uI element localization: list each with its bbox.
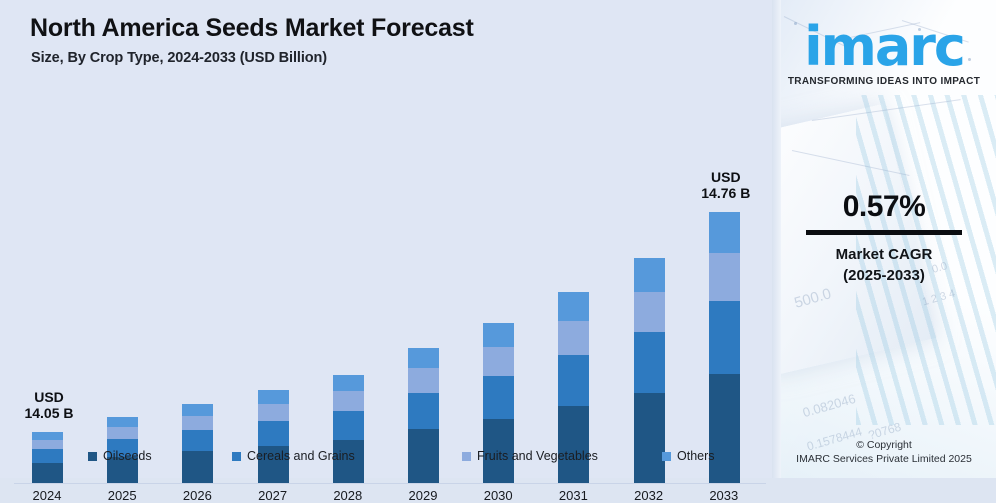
x-axis-label: 2030 [465,488,531,503]
bar-segment[interactable] [182,416,213,430]
bar-group[interactable] [465,80,531,483]
page-subtitle: Size, By Crop Type, 2024-2033 (USD Billi… [31,50,327,66]
legend-swatch-icon [662,452,671,461]
bar-segment[interactable] [558,355,589,406]
legend-label: Cereals and Grains [247,449,355,463]
axis-baseline [14,483,766,484]
bar-segment[interactable] [107,427,138,439]
bar-group[interactable] [89,80,155,483]
bar-group[interactable] [616,80,682,483]
legend-swatch-icon [232,452,241,461]
bar-segment[interactable] [258,390,289,404]
bar-segment[interactable] [258,404,289,421]
bar-group[interactable] [164,80,230,483]
bar-segment[interactable] [408,368,439,392]
cagr-label: Market CAGR [772,244,996,265]
chart-legend: OilseedsCereals and GrainsFruits and Veg… [0,441,772,471]
bar-segment[interactable] [709,301,740,374]
bar-segment[interactable] [32,432,63,440]
x-axis-label: 2024 [14,488,80,503]
bar-segment[interactable] [483,347,514,376]
copyright-line-1: © Copyright [772,438,996,452]
bar-segment[interactable] [333,391,364,410]
legend-item[interactable]: Cereals and Grains [232,449,355,463]
x-axis-label: 2032 [616,488,682,503]
x-axis-label: 2029 [390,488,456,503]
bar-group[interactable] [315,80,381,483]
bar-group[interactable] [390,80,456,483]
legend-label: Fruits and Vegetables [477,449,598,463]
bar-segment[interactable] [333,375,364,391]
bar-segment[interactable] [182,404,213,416]
bar-value-label: USD 14.76 B [684,169,768,201]
x-axis-label: 2026 [164,488,230,503]
bar-value-label: USD 14.05 B [7,389,91,421]
bar-group[interactable]: USD 14.76 B [691,80,757,483]
cagr-block: 0.57% Market CAGR (2025-2033) [772,190,996,286]
imarc-logo: imarc TRANSFORMING IDEAS INTO IMPACT [772,20,996,87]
x-axis-label: 2031 [540,488,606,503]
bar-group[interactable] [540,80,606,483]
bar-segment[interactable] [709,212,740,253]
x-axis-label: 2028 [315,488,381,503]
bar-segment[interactable] [634,258,665,292]
x-axis-label: 2025 [89,488,155,503]
bar-segment[interactable] [634,332,665,393]
chart-page: North America Seeds Market Forecast Size… [0,0,996,478]
bar-segment[interactable] [483,376,514,419]
legend-item[interactable]: Others [662,449,715,463]
cagr-value: 0.57% [772,190,996,224]
cagr-divider [806,230,962,235]
bar-segment[interactable] [558,321,589,355]
bar-segment[interactable] [634,292,665,332]
bar-segment[interactable] [709,253,740,302]
legend-item[interactable]: Oilseeds [88,449,152,463]
bar-segment[interactable] [558,292,589,321]
legend-swatch-icon [462,452,471,461]
cagr-period: (2025-2033) [772,265,996,286]
legend-item[interactable]: Fruits and Vegetables [462,449,598,463]
bar-group[interactable] [240,80,306,483]
plot-area: USD 14.05 BUSD 14.76 B 20242025202620272… [0,80,772,405]
brand-panel: 500.0 1 2 3 4 0.0 0.082046 ?0768 0.15784… [772,0,996,478]
bar-segment[interactable] [408,393,439,429]
x-axis-label: 2027 [240,488,306,503]
copyright-notice: © Copyright IMARC Services Private Limit… [772,438,996,466]
legend-label: Others [677,449,715,463]
bar-segment[interactable] [333,411,364,440]
bar-segment[interactable] [483,323,514,347]
copyright-line-2: IMARC Services Private Limited 2025 [772,452,996,466]
bar-segment[interactable] [408,348,439,368]
legend-label: Oilseeds [103,449,152,463]
chart-panel: North America Seeds Market Forecast Size… [0,0,772,478]
logo-wordmark: imarc [804,20,964,74]
bar-group[interactable]: USD 14.05 B [14,80,80,483]
page-title: North America Seeds Market Forecast [30,14,474,43]
legend-swatch-icon [88,452,97,461]
bar-segment[interactable] [107,417,138,427]
x-axis-label: 2033 [691,488,757,503]
